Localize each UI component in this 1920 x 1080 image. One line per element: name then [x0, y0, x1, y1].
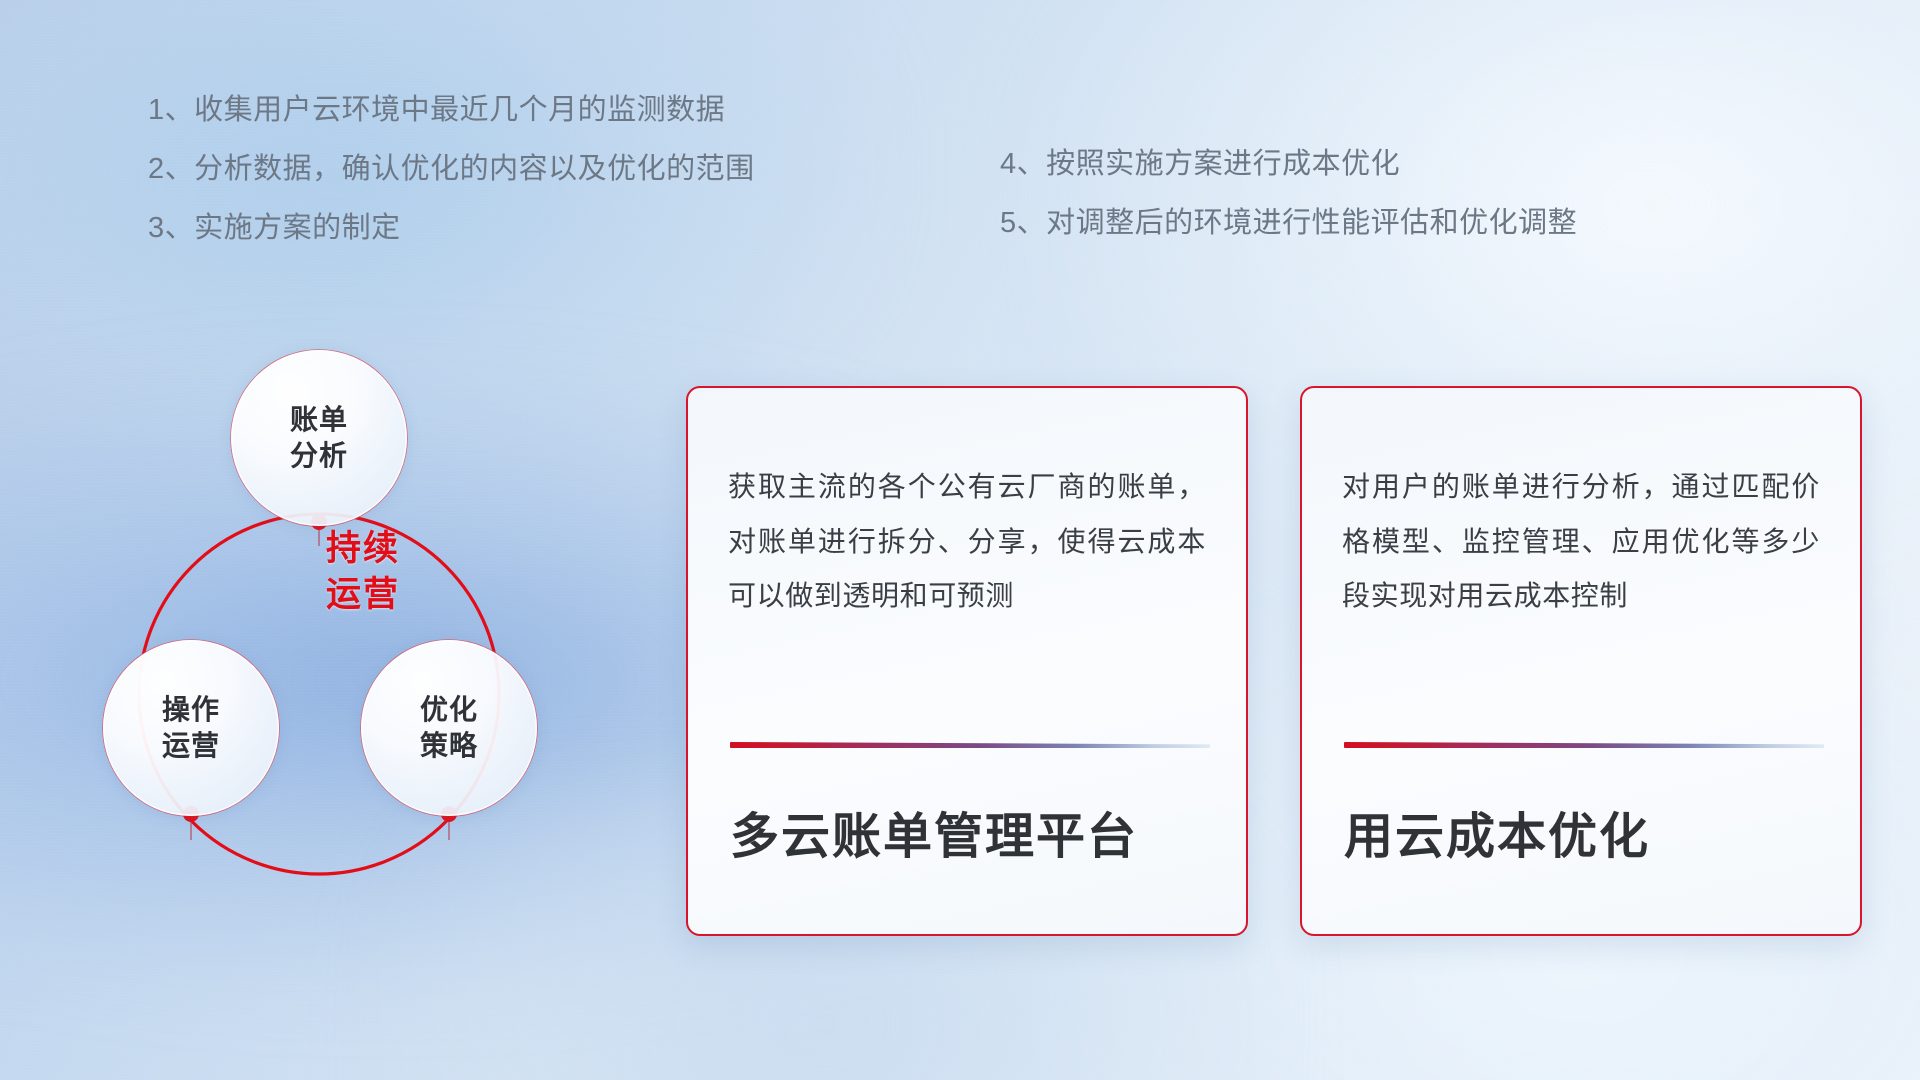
step-item-1: 1、收集用户云环境中最近几个月的监测数据: [148, 96, 755, 125]
card-title: 多云账单管理平台: [730, 813, 1138, 862]
step-item-3: 3、实施方案的制定: [148, 214, 755, 243]
card-cloud-cost-optimization[interactable]: 对用户的账单进行分析，通过匹配价格模型、监控管理、应用优化等多少段实现对用云成本…: [1300, 386, 1862, 936]
step-item-4: 4、按照实施方案进行成本优化: [1000, 150, 1577, 179]
bubble-label-line1: 账单: [290, 402, 348, 438]
bubble-label-line2: 分析: [290, 438, 348, 474]
center-label-line1: 持续: [283, 526, 443, 572]
section-divider-rule: [100, 316, 1845, 323]
continuous-operation-diagram: 账单 分析 操作 运营 优化 策略 持续 运营: [95, 350, 615, 950]
bubble-label-optimization-strategy: 优化 策略: [420, 692, 478, 764]
diagram-bubble-operations[interactable]: 操作 运营: [103, 640, 279, 816]
card-multi-cloud-billing[interactable]: 获取主流的各个公有云厂商的账单，对账单进行拆分、分享，使得云成本可以做到透明和可…: [686, 386, 1248, 936]
card-description: 对用户的账单进行分析，通过匹配价格模型、监控管理、应用优化等多少段实现对用云成本…: [1342, 460, 1820, 624]
diagram-center-label: 持续 运营: [283, 526, 443, 617]
steps-right-column: 4、按照实施方案进行成本优化 5、对调整后的环境进行性能评估和优化调整: [1000, 150, 1577, 268]
step-item-5: 5、对调整后的环境进行性能评估和优化调整: [1000, 209, 1577, 238]
center-label-line2: 运营: [283, 572, 443, 618]
diagram-bubble-optimization-strategy[interactable]: 优化 策略: [361, 640, 537, 816]
bubble-label-operations: 操作 运营: [162, 692, 220, 764]
bubble-label-bill-analysis: 账单 分析: [290, 402, 348, 474]
bubble-label-line2: 运营: [162, 728, 220, 764]
bubble-label-line1: 操作: [162, 692, 220, 728]
card-description: 获取主流的各个公有云厂商的账单，对账单进行拆分、分享，使得云成本可以做到透明和可…: [728, 460, 1206, 624]
card-divider-rule: [1344, 742, 1824, 748]
step-item-2: 2、分析数据，确认优化的内容以及优化的范围: [148, 155, 755, 184]
card-divider-rule: [730, 742, 1210, 748]
bubble-label-line1: 优化: [420, 692, 478, 728]
steps-left-column: 1、收集用户云环境中最近几个月的监测数据 2、分析数据，确认优化的内容以及优化的…: [148, 96, 755, 273]
diagram-bubble-bill-analysis[interactable]: 账单 分析: [231, 350, 407, 526]
card-body-text: 获取主流的各个公有云厂商的账单，对账单进行拆分、分享，使得云成本可以做到透明和可…: [688, 388, 1246, 624]
bubble-label-line2: 策略: [420, 728, 478, 764]
card-title: 用云成本优化: [1344, 813, 1650, 862]
card-body-text: 对用户的账单进行分析，通过匹配价格模型、监控管理、应用优化等多少段实现对用云成本…: [1302, 388, 1860, 624]
